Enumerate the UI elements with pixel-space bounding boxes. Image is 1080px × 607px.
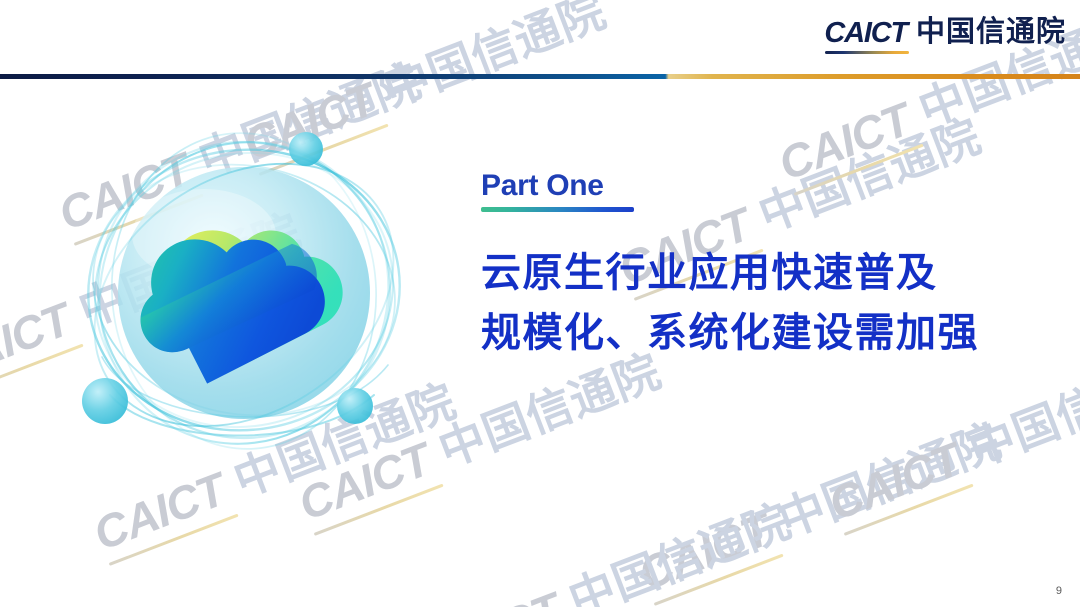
watermark-chinese: 中国信通院 bbox=[772, 415, 1008, 547]
watermark-chinese: 中国信通院 bbox=[562, 495, 798, 607]
slide-canvas: CAICT中国信通院CAICT中国信通院CAICT中国信通院CAICT中国信通院… bbox=[0, 0, 1080, 607]
watermark-tile: CAICT中国信通院 bbox=[418, 485, 799, 607]
part-label-wrap: Part One bbox=[481, 170, 1011, 212]
headline-line-2: 规模化、系统化建设需加强 bbox=[481, 304, 1011, 363]
cloud-sphere-illustration bbox=[58, 95, 428, 465]
logo-english-wrap: CAICT bbox=[824, 19, 907, 55]
logo-english-text: CAICT bbox=[824, 19, 907, 48]
part-label: Part One bbox=[481, 170, 604, 202]
watermark-chinese: 中国信通院 bbox=[432, 345, 668, 477]
node-sphere-bottom bbox=[337, 388, 373, 424]
part-label-underline bbox=[481, 207, 634, 212]
header-divider-rule bbox=[0, 74, 1080, 79]
watermark-chinese: 中国信通院 bbox=[962, 345, 1080, 477]
watermark-english: CAICT bbox=[632, 501, 783, 600]
watermark-english: CAICT bbox=[422, 581, 573, 607]
section-text-block: Part One 云原生行业应用快速普及 规模化、系统化建设需加强 bbox=[481, 170, 1011, 363]
node-sphere-top bbox=[289, 132, 323, 166]
headline-line-1: 云原生行业应用快速普及 bbox=[481, 244, 1011, 303]
logo-chinese-text: 中国信通院 bbox=[916, 18, 1066, 55]
slide-header: CAICT 中国信通院 bbox=[0, 0, 1080, 78]
logo-underline bbox=[825, 51, 909, 54]
node-sphere-left bbox=[82, 378, 128, 424]
watermark-english: CAICT bbox=[822, 431, 973, 530]
section-headline: 云原生行业应用快速普及 规模化、系统化建设需加强 bbox=[481, 244, 1011, 362]
caict-logo: CAICT 中国信通院 bbox=[824, 18, 1066, 55]
watermark-tile: CAICT中国信通院 bbox=[628, 405, 1009, 604]
watermark-english: CAICT bbox=[87, 461, 238, 560]
watermark-tile: CAICT中国信通院 bbox=[818, 335, 1080, 534]
page-number: 9 bbox=[1056, 585, 1062, 597]
